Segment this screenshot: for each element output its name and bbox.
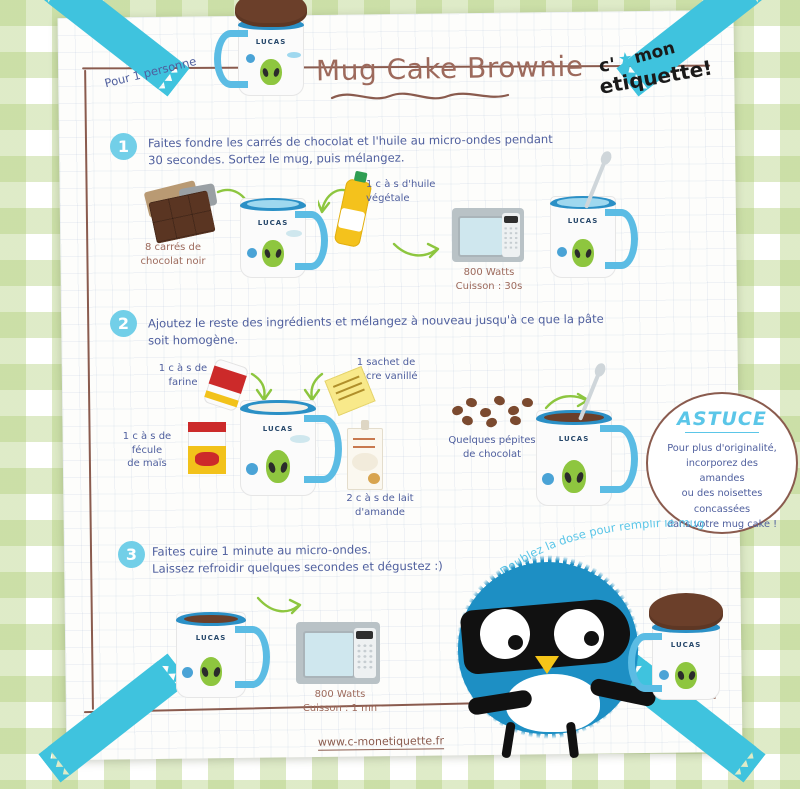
brownie-top xyxy=(235,0,306,27)
mug-handle xyxy=(304,415,341,483)
bird-eye-left xyxy=(480,609,530,659)
brownie-top xyxy=(649,593,722,630)
title-squiggle-decoration xyxy=(330,88,510,104)
bird-held-mug: LUCAS xyxy=(652,620,720,700)
arrow-2a xyxy=(246,372,276,402)
planet-icon xyxy=(182,667,193,678)
label-microwave-step1: 800 Watts Cuisson : 30s xyxy=(446,266,532,293)
label-starch: 1 c à s de fécule de maïs xyxy=(110,430,184,471)
step-2-text: Ajoutez le reste des ingrédients et méla… xyxy=(148,311,618,351)
label-microwave-step3: 800 Watts Cuisson : 1 mn xyxy=(294,688,386,715)
step2-mug: LUCAS xyxy=(240,400,316,496)
step-3-badge: 3 xyxy=(118,541,145,568)
label-almond-milk: 2 c à s de lait d'amande xyxy=(330,492,430,519)
alien-icon xyxy=(260,59,281,86)
bird-beak xyxy=(535,656,559,674)
astuce-bubble: ASTUCE Pour plus d'originalité, incorpor… xyxy=(646,392,798,534)
step-2-badge: 2 xyxy=(110,310,137,337)
label-chocolate: 8 carrés de chocolat noir xyxy=(130,241,216,268)
step2-mug-result: LUCAS xyxy=(536,410,612,506)
microwave-icon-step1 xyxy=(452,208,524,262)
hero-mug-with-brownie: LUCAS xyxy=(238,18,304,96)
footer-url[interactable]: www.c-monetiquette.fr xyxy=(318,734,444,751)
alien-icon xyxy=(266,450,290,483)
step-1-text: Faites fondre les carrés de chocolat et … xyxy=(148,131,568,170)
step3-mug: LUCAS xyxy=(176,612,246,698)
mug-handle xyxy=(235,626,270,688)
planet-icon xyxy=(247,248,257,258)
arrow-2b xyxy=(300,372,330,402)
mug-handle xyxy=(600,425,637,493)
astuce-body: Pour plus d'originalité, incorporez des … xyxy=(648,441,796,532)
alien-icon xyxy=(675,662,697,689)
mug-name-label: LUCAS xyxy=(238,38,304,46)
cornstarch-box-icon xyxy=(188,422,226,474)
alien-icon xyxy=(562,460,586,493)
planet-icon xyxy=(659,670,669,680)
arrow-3a xyxy=(256,592,302,622)
alien-icon xyxy=(262,240,283,267)
ufo-icon xyxy=(290,435,310,443)
mug-handle xyxy=(628,633,662,692)
microwave-icon-step3 xyxy=(296,622,380,684)
almond-milk-carton-icon xyxy=(347,428,383,490)
star-icon: ★ xyxy=(617,48,634,69)
label-oil: 1 c à s d'huile végétale xyxy=(366,178,458,205)
arrow-1c xyxy=(392,238,440,264)
step1-mug: LUCAS xyxy=(240,198,306,278)
alien-icon xyxy=(200,657,222,686)
step-1-badge: 1 xyxy=(110,133,137,160)
step1-mug-result: LUCAS xyxy=(550,196,616,278)
planet-icon xyxy=(557,247,567,257)
astuce-underline xyxy=(685,432,759,433)
page-title: Mug Cake Brownie xyxy=(316,50,584,88)
mug-name-label: LUCAS xyxy=(652,641,720,649)
alien-icon xyxy=(572,239,593,267)
astuce-title: ASTUCE xyxy=(677,408,767,430)
planet-icon xyxy=(246,54,255,63)
bird-eye-right xyxy=(554,609,604,659)
step-3-text: Faites cuire 1 minute au micro-ondes. La… xyxy=(152,540,482,578)
chocolate-chips-icon xyxy=(452,392,536,428)
